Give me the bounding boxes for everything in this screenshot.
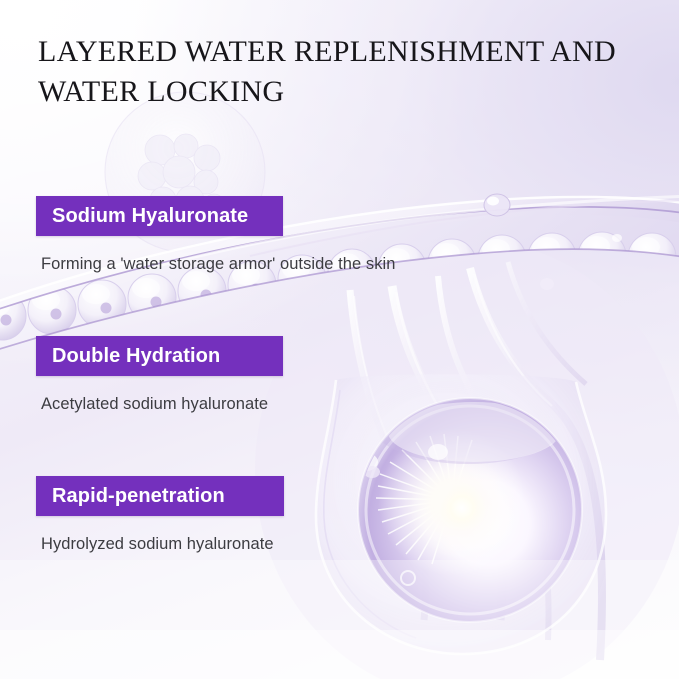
poster-canvas: LAYERED WATER REPLENISHMENT AND WATER LO… — [0, 0, 679, 679]
feature-item-rapid-penetration: Rapid-penetration Hydrolyzed sodium hyal… — [36, 476, 284, 554]
feature-item-double-hydration: Double Hydration Acetylated sodium hyalu… — [36, 336, 283, 414]
feature-list: Sodium Hyaluronate Forming a 'water stor… — [0, 0, 679, 679]
badge-label: Rapid-penetration — [52, 485, 225, 508]
badge-double-hydration[interactable]: Double Hydration — [36, 336, 283, 376]
badge-rapid-penetration[interactable]: Rapid-penetration — [36, 476, 284, 516]
feature-description: Forming a 'water storage armor' outside … — [36, 255, 395, 274]
badge-label: Double Hydration — [52, 345, 220, 368]
feature-item-sodium-hyaluronate: Sodium Hyaluronate Forming a 'water stor… — [36, 196, 395, 274]
feature-description: Acetylated sodium hyaluronate — [36, 395, 283, 414]
feature-description: Hydrolyzed sodium hyaluronate — [36, 535, 284, 554]
badge-label: Sodium Hyaluronate — [52, 205, 248, 228]
badge-sodium-hyaluronate[interactable]: Sodium Hyaluronate — [36, 196, 283, 236]
